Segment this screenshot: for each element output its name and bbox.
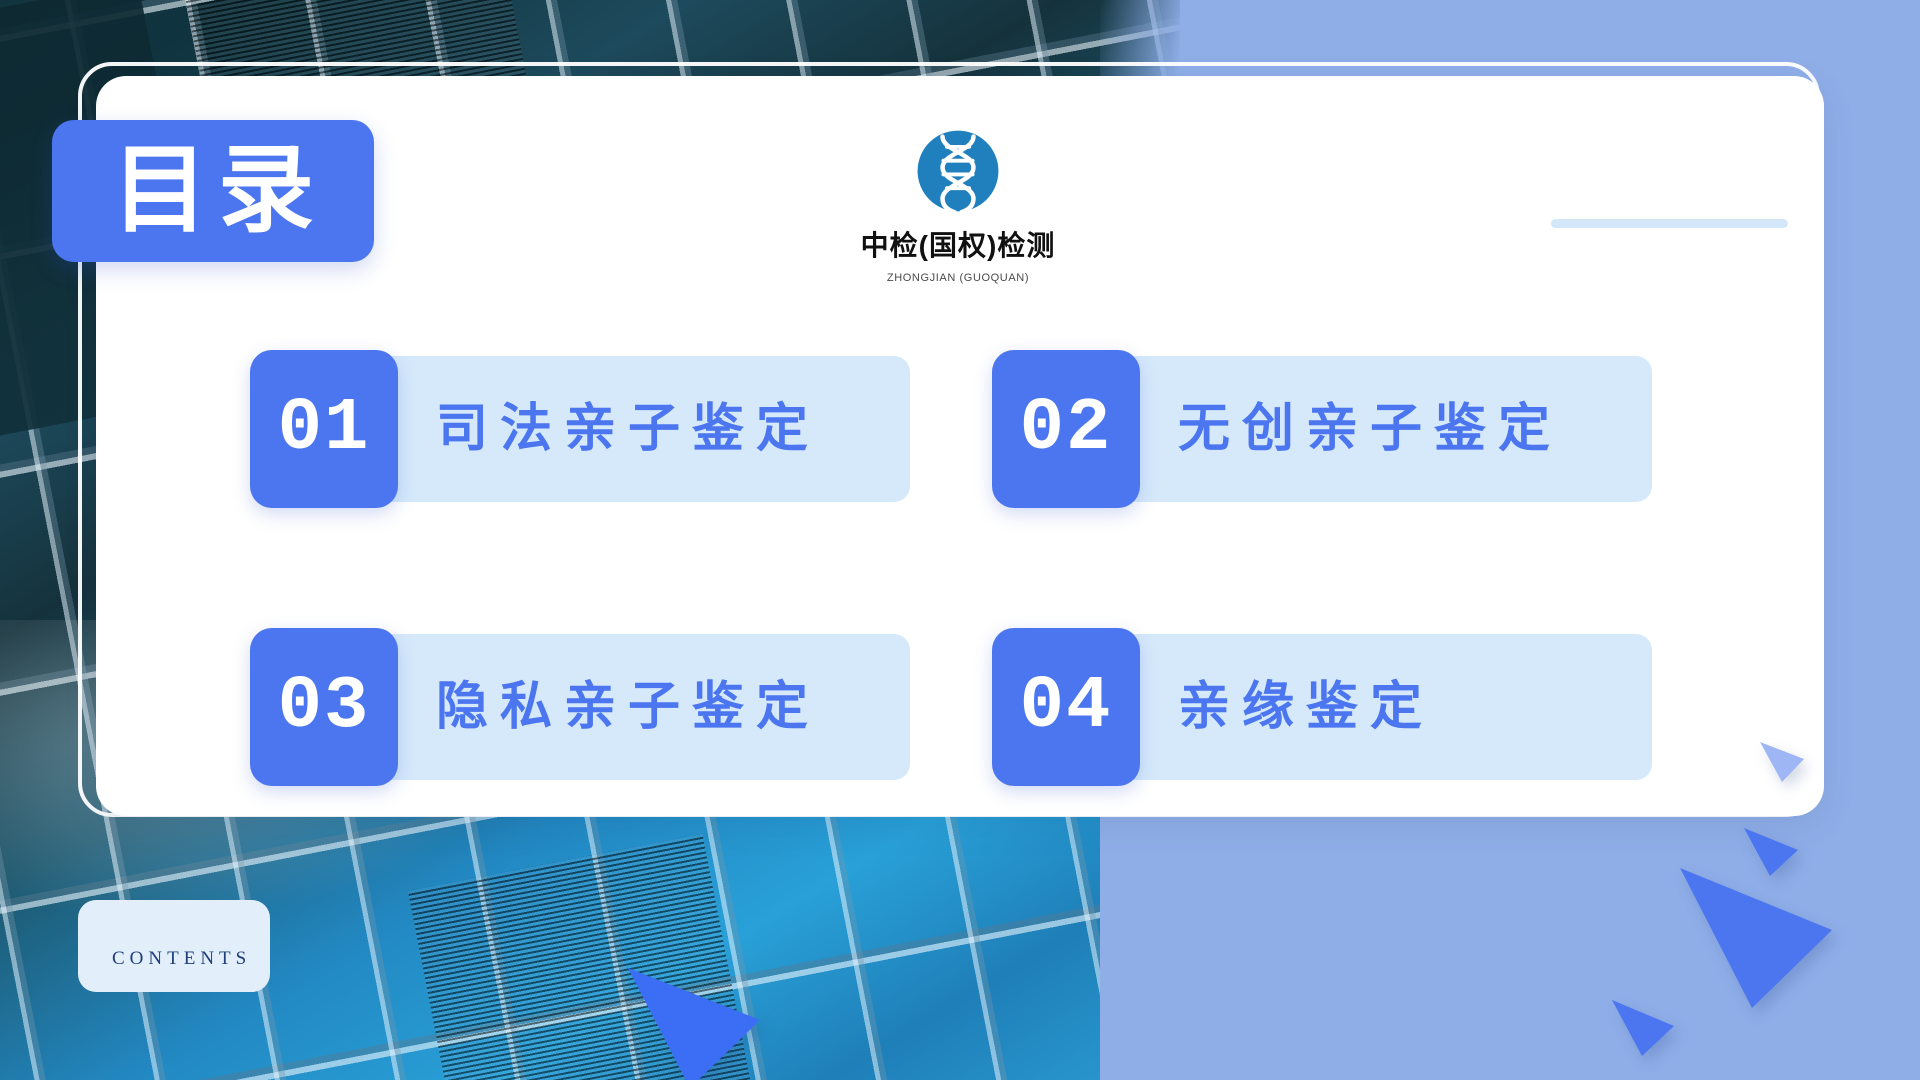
page-title: 目录: [102, 143, 324, 239]
agenda-item-01[interactable]: 司法亲子鉴定 01: [250, 350, 910, 508]
agenda-item-pill: 司法亲子鉴定: [336, 356, 910, 502]
agenda-item-pill: 无创亲子鉴定: [1078, 356, 1652, 502]
agenda-item-label: 司法亲子鉴定: [436, 403, 820, 455]
agenda-item-03[interactable]: 隐私亲子鉴定 03: [250, 628, 910, 786]
slide-root: 目录 中检(国权)检测 ZHONGJIAN (GUOQUAN) 司法亲子鉴定: [0, 0, 1920, 1080]
triangle-small-pale-icon: [1760, 742, 1804, 782]
agenda-list: 司法亲子鉴定 01 无创亲子鉴定 02 隐私亲子鉴定 03 亲缘鉴定 04: [250, 350, 1650, 786]
agenda-item-number: 02: [992, 350, 1140, 508]
agenda-item-04[interactable]: 亲缘鉴定 04: [992, 628, 1652, 786]
dna-helix-icon: [915, 128, 1001, 214]
company-logo: 中检(国权)检测 ZHONGJIAN (GUOQUAN): [828, 128, 1088, 284]
page-title-badge: 目录: [52, 120, 374, 262]
logo-name-zh: 中检(国权)检测: [828, 224, 1088, 264]
agenda-item-number: 01: [250, 350, 398, 508]
logo-name-en: ZHONGJIAN (GUOQUAN): [828, 272, 1088, 284]
agenda-item-pill: 隐私亲子鉴定: [336, 634, 910, 780]
triangle-corner-blue-icon: [1612, 1000, 1674, 1056]
contents-label: CONTENTS: [112, 948, 251, 970]
agenda-item-number: 04: [992, 628, 1140, 786]
triangle-large-blue-icon: [1680, 868, 1832, 1008]
agenda-item-number: 03: [250, 628, 398, 786]
agenda-item-label: 亲缘鉴定: [1178, 681, 1434, 733]
triangle-bottom-blue-icon: [628, 968, 760, 1080]
contents-chip: [78, 900, 270, 992]
agenda-item-pill: 亲缘鉴定: [1078, 634, 1652, 780]
agenda-item-label: 无创亲子鉴定: [1178, 403, 1562, 455]
accent-rule: [1551, 219, 1788, 228]
agenda-item-02[interactable]: 无创亲子鉴定 02: [992, 350, 1652, 508]
agenda-item-label: 隐私亲子鉴定: [436, 681, 820, 733]
